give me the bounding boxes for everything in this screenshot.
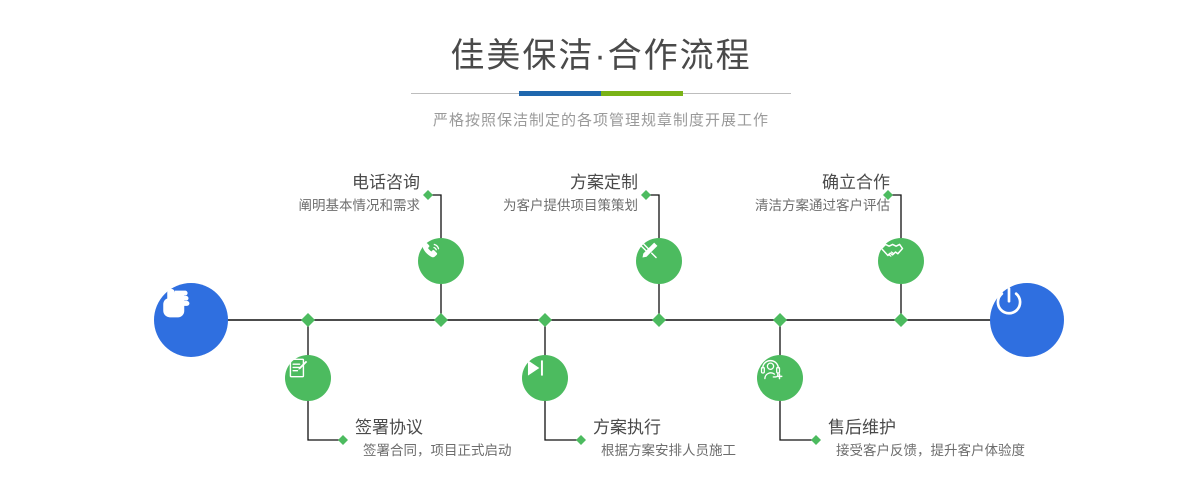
title-divider <box>411 88 791 100</box>
step-desc-4: 根据方案安排人员施工 <box>601 441 736 461</box>
label-markers <box>338 190 893 445</box>
step-label-2: 签署协议 签署合同，项目正式启动 <box>355 417 512 461</box>
step-desc-6: 接受客户反馈，提升客户体验度 <box>836 441 1025 461</box>
process-timeline: 电话咨询 阐明基本情况和需求 签署协议 签署合同，项目正式启动 方案定制 为客户… <box>0 160 1202 502</box>
step-label-1: 电话咨询 阐明基本情况和需求 <box>299 172 421 216</box>
step-icon-4[interactable] <box>522 355 568 401</box>
play-execute-icon <box>522 355 548 381</box>
axis-marker-3 <box>538 313 552 327</box>
step-title-3: 方案定制 <box>503 172 638 194</box>
handshake-icon <box>878 238 906 266</box>
label-marker-step-4 <box>576 435 586 445</box>
phone-call-icon <box>418 238 445 265</box>
axis-marker-4 <box>652 313 666 327</box>
step-icon-5[interactable] <box>878 238 924 284</box>
axis-marker-6 <box>894 313 908 327</box>
axis-marker-5 <box>773 313 787 327</box>
step-label-4: 方案执行 根据方案安排人员施工 <box>593 417 736 461</box>
page-header: 佳美保洁·合作流程 严格按照保洁制定的各项管理规章制度开展工作 <box>0 0 1202 130</box>
step-desc-2: 签署合同，项目正式启动 <box>363 441 512 461</box>
step-title-1: 电话咨询 <box>299 172 421 194</box>
power-icon <box>990 283 1028 321</box>
label-marker-step-6 <box>811 435 821 445</box>
page-subtitle: 严格按照保洁制定的各项管理规章制度开展工作 <box>0 109 1202 130</box>
divider-segment-green <box>601 91 683 96</box>
step-title-5: 确立合作 <box>755 172 890 194</box>
axis-marker-1 <box>301 313 315 327</box>
step-label-3: 方案定制 为客户提供项目策策划 <box>503 172 638 216</box>
step-icon-1[interactable] <box>418 238 464 284</box>
divider-segment-blue <box>519 91 601 96</box>
step-icon-2[interactable] <box>285 355 331 401</box>
step-desc-1: 阐明基本情况和需求 <box>299 196 421 216</box>
step-label-6: 售后维护 接受客户反馈，提升客户体验度 <box>828 417 1025 461</box>
timeline-end-node[interactable] <box>990 283 1064 357</box>
step-title-4: 方案执行 <box>593 417 736 439</box>
step-icon-3[interactable] <box>636 238 682 284</box>
label-marker-step-3 <box>641 190 651 200</box>
step-title-2: 签署协议 <box>355 417 512 439</box>
support-agent-icon <box>757 355 784 382</box>
pointing-hand-icon <box>154 283 194 323</box>
step-icon-6[interactable] <box>757 355 803 401</box>
step-desc-5: 清洁方案通过客户评估 <box>755 196 890 216</box>
timeline-start-node[interactable] <box>154 283 228 357</box>
page-title: 佳美保洁·合作流程 <box>0 34 1202 78</box>
step-label-5: 确立合作 清洁方案通过客户评估 <box>755 172 890 216</box>
step-title-6: 售后维护 <box>828 417 1025 439</box>
pen-design-icon <box>636 238 662 264</box>
step-desc-3: 为客户提供项目策策划 <box>503 196 638 216</box>
label-marker-step-2 <box>338 435 348 445</box>
document-edit-icon <box>285 355 311 381</box>
label-marker-step-1 <box>423 190 433 200</box>
axis-marker-2 <box>434 313 448 327</box>
